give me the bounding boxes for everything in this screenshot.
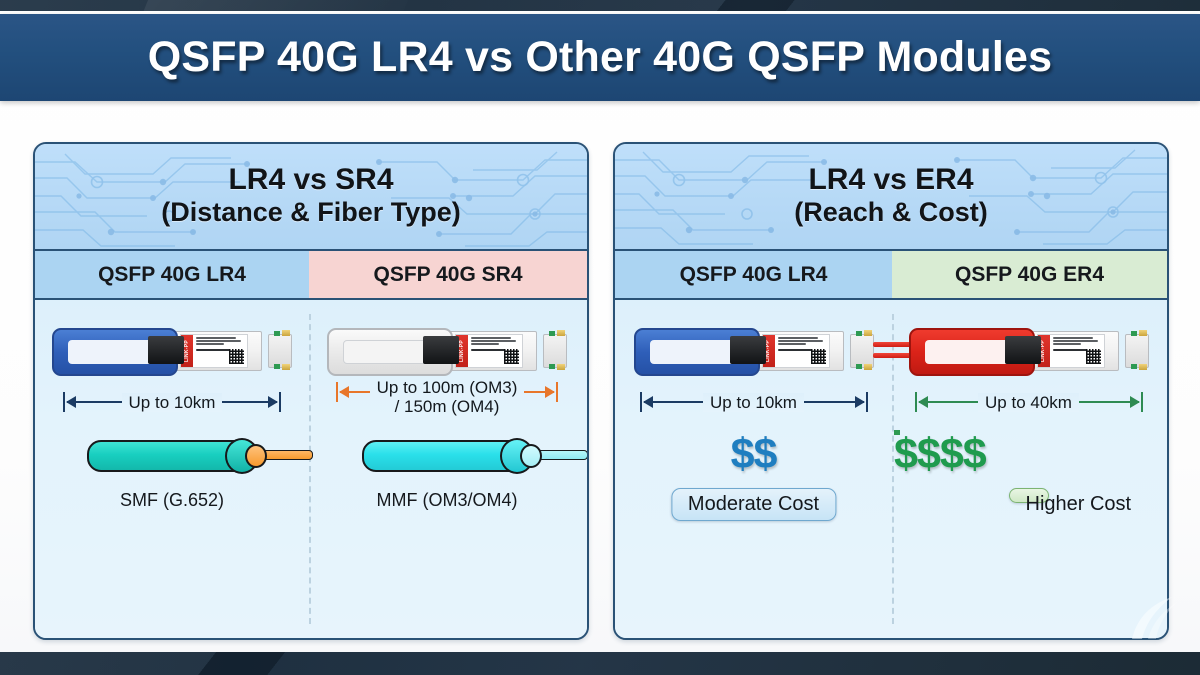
column-header-er4: QSFP 40G ER4 bbox=[892, 251, 1167, 298]
module-lr4: LINK-PP bbox=[35, 322, 309, 378]
module-label-er4: LINK-PP bbox=[1037, 334, 1105, 368]
panel-lr4-vs-sr4: LR4 vs SR4 (Distance & Fiber Type) QSFP … bbox=[33, 142, 589, 640]
fiber-caption-mmf: MMF (OM3/OM4) bbox=[311, 490, 583, 511]
title-bar: QSFP 40G LR4 vs Other 40G QSFP Modules bbox=[0, 14, 1200, 101]
fiber-caption-smf: SMF (G.652) bbox=[35, 490, 309, 511]
panel-header-right: LR4 vs ER4 (Reach & Cost) bbox=[615, 144, 1167, 251]
connector-icon bbox=[423, 336, 459, 364]
panel-right-subtitle: (Reach & Cost) bbox=[794, 197, 988, 227]
cell-er4: LINK-PP bbox=[894, 300, 1163, 638]
column-headers-left: QSFP 40G LR4 QSFP 40G SR4 bbox=[35, 251, 587, 300]
cell-sr4: LINK-PP bbox=[311, 300, 583, 638]
slide-stage: QSFP 40G LR4 vs Other 40G QSFP Modules bbox=[0, 0, 1200, 675]
distance-lr4: Up to 10km bbox=[35, 392, 309, 412]
column-header-sr4: QSFP 40G SR4 bbox=[309, 251, 587, 298]
module-sr4: LINK-PP bbox=[311, 322, 583, 378]
fiber-lr4 bbox=[35, 440, 309, 472]
panel-left-subtitle: (Distance & Fiber Type) bbox=[161, 197, 461, 227]
distance-er4: Up to 40km bbox=[894, 392, 1163, 412]
cost-badge-moderate: Moderate Cost bbox=[671, 488, 836, 521]
module-er4: LINK-PP bbox=[894, 322, 1163, 378]
connector-icon bbox=[1005, 336, 1041, 364]
module-label-sr4: LINK-PP bbox=[455, 334, 523, 368]
column-header-lr4: QSFP 40G LR4 bbox=[35, 251, 309, 298]
module-label-lr4: LINK-PP bbox=[180, 334, 248, 368]
module-lr4-right: LINK-PP bbox=[615, 322, 892, 378]
column-header-lr4-right: QSFP 40G LR4 bbox=[615, 251, 892, 298]
distance-label-lr4-right: Up to 10km bbox=[703, 393, 804, 412]
panel-right-body: LINK-PP bbox=[615, 300, 1167, 638]
cost-symbols-moderate: $$ bbox=[615, 430, 892, 479]
distance-label-er4: Up to 40km bbox=[978, 393, 1079, 412]
page-title: QSFP 40G LR4 vs Other 40G QSFP Modules bbox=[148, 33, 1053, 82]
fiber-sr4 bbox=[311, 440, 583, 472]
cost-badge-higher: Higher Cost bbox=[1009, 488, 1049, 503]
panel-right-title: LR4 vs ER4 bbox=[808, 165, 973, 196]
module-label-lr4-right: LINK-PP bbox=[762, 334, 830, 368]
cell-lr4-right: LINK-PP bbox=[615, 300, 892, 638]
cost-symbols-higher: $$$$ bbox=[894, 430, 900, 435]
distance-sr4: Up to 100m (OM3) / 150m (OM4) bbox=[311, 378, 583, 402]
column-headers-right: QSFP 40G LR4 QSFP 40G ER4 bbox=[615, 251, 1167, 300]
connector-icon bbox=[730, 336, 766, 364]
distance-label-lr4: Up to 10km bbox=[122, 393, 223, 412]
distance-lr4-right: Up to 10km bbox=[615, 392, 892, 412]
connector-icon bbox=[148, 336, 184, 364]
panel-left-title: LR4 vs SR4 bbox=[228, 165, 393, 196]
corner-watermark-icon bbox=[1126, 595, 1178, 641]
panel-lr4-vs-er4: LR4 vs ER4 (Reach & Cost) QSFP 40G LR4 Q… bbox=[613, 142, 1169, 640]
panel-left-body: LINK-PP bbox=[35, 300, 587, 638]
panel-header-left: LR4 vs SR4 (Distance & Fiber Type) bbox=[35, 144, 587, 251]
cell-lr4: LINK-PP bbox=[35, 300, 309, 638]
